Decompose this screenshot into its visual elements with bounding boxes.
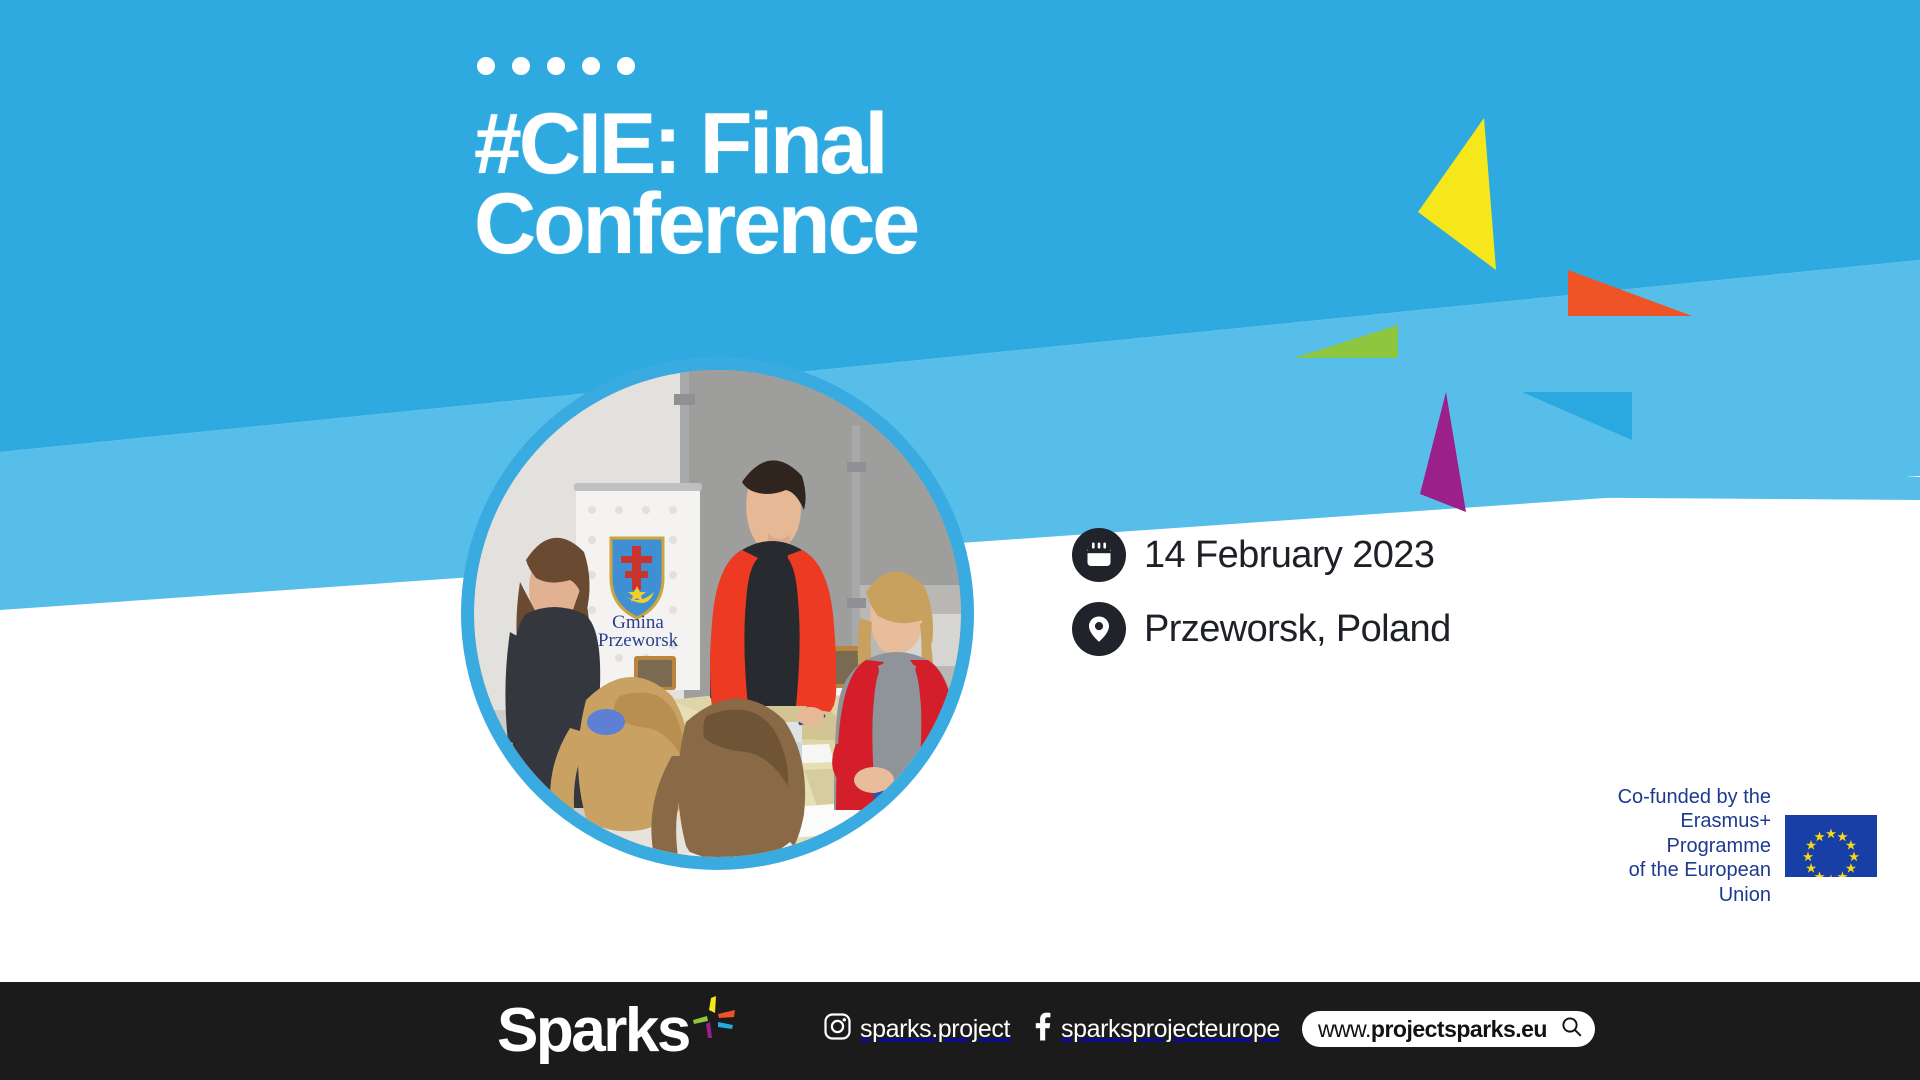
event-details: 14 February 2023 Przeworsk, Poland — [1072, 528, 1451, 676]
event-location-text: Przeworsk, Poland — [1144, 608, 1451, 651]
sparks-logo-text: Sparks — [497, 1000, 689, 1062]
event-location-row: Przeworsk, Poland — [1072, 602, 1451, 656]
decorative-dot — [582, 57, 600, 75]
spark-burst-icon — [685, 994, 739, 1045]
search-icon[interactable] — [1561, 1016, 1582, 1042]
event-date-row: 14 February 2023 — [1072, 528, 1451, 582]
meeting-room-illustration: Gmina Przeworsk — [474, 370, 961, 857]
instagram-handle: sparks.project — [860, 1015, 1010, 1044]
sparks-logo: Sparks — [497, 1000, 739, 1062]
page-title: #CIE: Final Conference — [474, 105, 917, 265]
svg-text:Przeworsk: Przeworsk — [598, 630, 679, 651]
decorative-dot — [512, 57, 530, 75]
decorative-dot — [617, 57, 635, 75]
event-banner: #CIE: Final Conference — [0, 0, 1920, 1080]
website-url-text: www.projectsparks.eu — [1318, 1016, 1547, 1043]
facebook-icon — [1032, 1012, 1052, 1046]
decorative-dot-row — [477, 57, 635, 75]
decorative-dot — [477, 57, 495, 75]
event-date-text: 14 February 2023 — [1144, 534, 1434, 577]
calendar-icon — [1072, 528, 1126, 582]
eu-funding-text: Co-funded by the Erasmus+ Programme of t… — [1571, 785, 1771, 907]
eu-funding-badge: Co-funded by the Erasmus+ Programme of t… — [1557, 776, 1920, 916]
event-photo: Gmina Przeworsk — [461, 357, 974, 870]
instagram-icon — [824, 1013, 851, 1045]
event-photo-image: Gmina Przeworsk — [474, 370, 961, 857]
website-url-pill[interactable]: www.projectsparks.eu — [1302, 1011, 1595, 1047]
eu-flag-icon — [1785, 815, 1877, 877]
facebook-handle: sparksprojecteurope — [1061, 1015, 1280, 1044]
url-domain: projectsparks.eu — [1371, 1016, 1547, 1042]
facebook-link[interactable]: sparksprojecteurope — [1032, 1012, 1280, 1046]
location-pin-icon — [1072, 602, 1126, 656]
decorative-dot — [547, 57, 565, 75]
instagram-link[interactable]: sparks.project — [824, 1013, 1010, 1045]
url-prefix: www. — [1318, 1016, 1371, 1042]
footer-social-links: sparks.project sparksprojecteurope www.p… — [824, 1011, 1595, 1047]
